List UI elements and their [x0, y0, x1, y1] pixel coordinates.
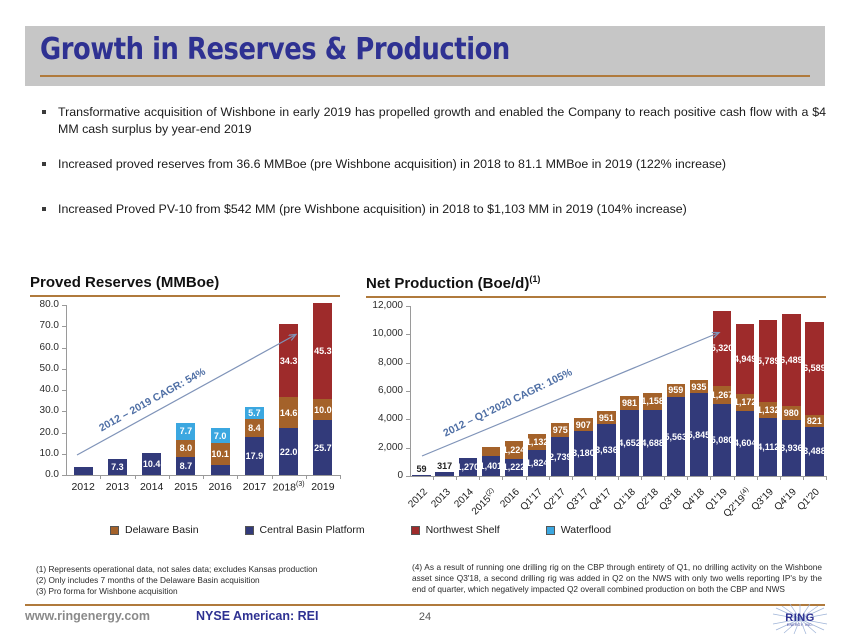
y-axis-tick [62, 305, 66, 306]
bar-segment-central-basin-platform: 3,488 [805, 427, 823, 476]
bar-2014: 1,270 [459, 306, 477, 476]
bar-2013 [435, 306, 453, 476]
y-axis-tick [406, 476, 410, 477]
bar-value-label: 17.9 [246, 451, 264, 461]
bar-value-label: 4,652 [618, 438, 641, 448]
legend-swatch-icon [546, 526, 555, 535]
y-axis-tick [62, 454, 66, 455]
bar-Q218: 4,6881,158 [643, 306, 661, 476]
x-axis-tick [734, 476, 735, 480]
bullet-marker-icon [42, 110, 46, 114]
bar-value-label: 1,401 [480, 461, 503, 471]
bar-value-label: 10.4 [143, 459, 161, 469]
bar-value-label: 5,080 [711, 435, 734, 445]
chart-title-proved-reserves: Proved Reserves (MMBoe) [30, 274, 340, 291]
y-axis-tick-label: 40.0 [30, 384, 59, 395]
x-axis-tick [479, 476, 480, 480]
bullet-marker-icon [42, 207, 46, 211]
bar-segment-central-basin-platform: 7.3 [108, 459, 127, 475]
bar-value-label: 5,789 [757, 356, 780, 366]
legend-label: Central Basin Platform [260, 524, 365, 536]
x-axis-tick [237, 475, 238, 479]
x-axis-tick [100, 475, 101, 479]
y-axis-tick-label: 50.0 [30, 363, 59, 374]
bar-value-label: 1,270 [457, 462, 480, 472]
legend-swatch-icon [245, 526, 254, 535]
y-axis-tick-label: 80.0 [30, 299, 59, 310]
bar-segment-central-basin-platform: 1,270 [459, 458, 477, 476]
y-axis-tick [62, 369, 66, 370]
bar-segment-central-basin-platform: 1,401 [482, 456, 500, 476]
bar-segment-central-basin-platform: 25.7 [313, 420, 332, 475]
legend-swatch-icon [411, 526, 420, 535]
bar-segment-delaware-basin: 821 [805, 415, 823, 427]
x-axis-tick [306, 475, 307, 479]
y-axis-tick-label: 0.0 [30, 469, 59, 480]
bar-value-label: 4,949 [734, 354, 757, 364]
bar-segment-central-basin-platform: 5,080 [713, 404, 731, 476]
proved-reserves-panel: Proved Reserves (MMBoe) 0.010.020.030.04… [30, 274, 340, 505]
bar-Q319: 4,1121,1325,789 [759, 306, 777, 476]
bar-2016: 10.17.0 [211, 305, 230, 475]
legend-label: Northwest Shelf [426, 524, 500, 536]
bar-segment-central-basin-platform [211, 465, 230, 475]
y-axis-tick-label: 20.0 [30, 427, 59, 438]
bar-segment-delaware-basin: 1,158 [643, 393, 661, 409]
bar-segment-northwest-shelf: 34.3 [279, 324, 298, 397]
bar-value-label: 10.0 [314, 405, 332, 415]
legend-label: Delaware Basin [125, 524, 199, 536]
bar-segment-delaware-basin: 975 [551, 423, 569, 437]
net-production-panel: Net Production (Boe/d)(1) 02,0004,0006,0… [366, 274, 826, 530]
y-axis-tick [406, 448, 410, 449]
bar-segment-northwest-shelf: 5,320 [713, 311, 731, 386]
x-axis-tick [433, 476, 434, 480]
bar-segment-delaware-basin: 1,132 [528, 434, 546, 450]
bar-segment-central-basin-platform [435, 472, 453, 476]
bar-Q419: 3,9369806,489 [782, 306, 800, 476]
bar-segment-delaware-basin: 951 [597, 411, 615, 424]
legend-item-waterflood[interactable]: Waterflood [546, 524, 611, 536]
bar-value-label: 1,224 [503, 445, 526, 455]
bar-segment-central-basin-platform: 22.0 [279, 428, 298, 475]
bar-segment-central-basin-platform: 4,688 [643, 410, 661, 476]
x-axis-tick [826, 476, 827, 480]
chart-title-underline [366, 296, 826, 298]
bar-value-label: 14.6 [280, 408, 298, 418]
bar-Q219: 4,6041,1724,949 [736, 306, 754, 476]
bar-value-label: 2,739 [549, 452, 572, 462]
bar-Q120: 3,4888216,589 [805, 306, 823, 476]
y-axis-tick-label: 70.0 [30, 320, 59, 331]
bar-value-label: 1,267 [711, 390, 734, 400]
page-title: Growth in Reserves & Production [40, 32, 510, 67]
bar-segment-central-basin-platform: 10.4 [142, 453, 161, 475]
x-axis-tick-label: 2015 [169, 481, 203, 493]
bar-value-label: 3,488 [803, 446, 826, 456]
bar-value-label: 981 [622, 398, 637, 408]
bar-value-label: 45.3 [314, 346, 332, 356]
bar-2018: 22.014.634.3 [279, 305, 298, 475]
x-axis-tick [203, 475, 204, 479]
bar-segment-central-basin-platform: 2,739 [551, 437, 569, 476]
footnote: (1) Represents operational data, not sal… [36, 564, 406, 575]
bar-segment-delaware-basin: 980 [782, 406, 800, 420]
bar-value-label: 8.7 [180, 461, 193, 471]
bar-segment-delaware-basin: 959 [667, 384, 685, 398]
legend-item-central-basin-platform[interactable]: Central Basin Platform [245, 524, 365, 536]
bar-segment-central-basin-platform: 1,222 [505, 459, 523, 476]
bar-2017: 17.98.45.7 [245, 305, 264, 475]
footnotes-left: (1) Represents operational data, not sal… [36, 564, 406, 597]
bar-value-label: 5.7 [248, 408, 261, 418]
y-axis-line [410, 306, 411, 476]
bar-value-label: 34.3 [280, 356, 298, 366]
y-axis-tick-label: 60.0 [30, 342, 59, 353]
bar-value-label: 3,636 [595, 445, 618, 455]
bar-Q418: 5,845935 [690, 306, 708, 476]
bullet-text: Increased proved reserves from 36.6 MMBo… [58, 157, 726, 171]
x-axis-tick [641, 476, 642, 480]
chart-title-text: Net Production (Boe/d) [366, 275, 529, 292]
x-axis-tick [664, 476, 665, 480]
footnotes-right: (4) As a result of running one drilling … [412, 562, 822, 595]
bar-value-label: 22.0 [280, 447, 298, 457]
x-axis-tick [803, 476, 804, 480]
x-axis-tick [710, 476, 711, 480]
bar-segment-central-basin-platform: 8.7 [176, 457, 195, 475]
bar-segment-central-basin-platform: 3,180 [574, 431, 592, 476]
y-axis-tick-label: 8,000 [366, 357, 403, 368]
bar-segment-central-basin-platform: 5,563 [667, 397, 685, 476]
bar-segment-central-basin-platform: 4,604 [736, 411, 754, 476]
bar-value-label: 7.7 [180, 426, 193, 436]
bar-value-label: 975 [553, 425, 568, 435]
footnote: (4) As a result of running one drilling … [412, 562, 822, 595]
y-axis-tick-label: 6,000 [366, 385, 403, 396]
y-axis-tick-label: 2,000 [366, 442, 403, 453]
bar-segment-delaware-basin [482, 447, 500, 456]
bar-value-label: 7.0 [214, 431, 227, 441]
bar-segment-central-basin-platform: 3,636 [597, 424, 615, 476]
bar-2013: 7.3 [108, 305, 127, 475]
title-banner: Growth in Reserves & Production [25, 26, 825, 86]
bar-value-label: 8.4 [248, 423, 261, 433]
x-axis-tick-label: 2014 [135, 481, 169, 493]
x-axis-tick [456, 476, 457, 480]
chart-title-net-production: Net Production (Boe/d)(1) [366, 274, 826, 292]
page-number: 24 [0, 611, 850, 623]
y-axis-tick [406, 306, 410, 307]
legend-swatch-icon [110, 526, 119, 535]
list-item: Increased proved reserves from 36.6 MMBo… [36, 156, 726, 173]
x-axis-tick-label: 2016 [203, 481, 237, 493]
x-axis-tick [595, 476, 596, 480]
y-axis-tick-label: 10,000 [366, 328, 403, 339]
x-axis-tick [618, 476, 619, 480]
x-axis-tick-label: 2017 [237, 481, 271, 493]
x-axis-tick [526, 476, 527, 480]
x-axis-tick [340, 475, 341, 479]
legend-item-delaware-basin[interactable]: Delaware Basin [110, 524, 199, 536]
bar-value-label: 3,180 [572, 448, 595, 458]
bar-value-label: 10.1 [211, 449, 229, 459]
net-production-plot: 02,0004,0006,0008,00010,00012,0005920123… [366, 306, 826, 530]
bar-value-label: 1,158 [641, 396, 664, 406]
bar-value-label: 1,172 [734, 397, 757, 407]
bar-segment-northwest-shelf: 45.3 [313, 303, 332, 399]
bar-segment-delaware-basin: 1,172 [736, 394, 754, 411]
y-axis-tick [406, 363, 410, 364]
logo-subtext: ENERGY, INC. [772, 623, 828, 627]
legend-item-northwest-shelf[interactable]: Northwest Shelf [411, 524, 500, 536]
bar-segment-central-basin-platform [412, 475, 430, 476]
bar-segment-delaware-basin: 10.0 [313, 399, 332, 420]
bar-2019: 25.710.045.3 [313, 305, 332, 475]
x-axis-tick [169, 475, 170, 479]
bar-value-label: 980 [784, 408, 799, 418]
bar-value-label: 4,604 [734, 438, 757, 448]
chart-legend: Delaware BasinCentral Basin PlatformNort… [110, 524, 750, 536]
x-axis-tick-label: 2013 [100, 481, 134, 493]
y-axis-tick [62, 475, 66, 476]
bar-value-label: 6,489 [780, 355, 803, 365]
bar-value-label: 907 [576, 420, 591, 430]
list-item: Increased Proved PV-10 from $542 MM (pre… [36, 201, 687, 218]
bar-segment-northwest-shelf: 6,589 [805, 322, 823, 415]
footnote: (3) Pro forma for Wishbone acquisition [36, 586, 406, 597]
y-axis-tick [62, 411, 66, 412]
bullet-text: Increased Proved PV-10 from $542 MM (pre… [58, 202, 687, 216]
list-item: Transformative acquisition of Wishbone i… [36, 104, 826, 137]
bar-segment-northwest-shelf: 4,949 [736, 324, 754, 394]
bar-segment-northwest-shelf: 6,489 [782, 314, 800, 406]
bar-segment-northwest-shelf: 5,789 [759, 320, 777, 402]
bar-2015: 1,401 [482, 306, 500, 476]
proved-reserves-plot: 0.010.020.030.040.050.060.070.080.020127… [30, 305, 340, 505]
bar-segment-central-basin-platform: 4,112 [759, 418, 777, 476]
x-axis-tick-label: 2012 [66, 481, 100, 493]
x-axis-tick [502, 476, 503, 480]
bar-value-label: 5,320 [711, 343, 734, 353]
x-axis-tick [572, 476, 573, 480]
y-axis-tick-label: 12,000 [366, 300, 403, 311]
bar-Q119: 5,0801,2675,320 [713, 306, 731, 476]
bar-value-label: 8.0 [180, 443, 193, 453]
x-axis-tick [272, 475, 273, 479]
y-axis-tick-label: 4,000 [366, 413, 403, 424]
bar-value-label: 25.7 [314, 443, 332, 453]
x-axis-tick [757, 476, 758, 480]
title-underline [40, 75, 810, 77]
bar-segment-delaware-basin: 1,224 [505, 441, 523, 458]
bar-segment-delaware-basin: 8.0 [176, 440, 195, 457]
bar-Q417: 3,636951 [597, 306, 615, 476]
x-axis-tick-label: 2018(3) [272, 481, 306, 494]
legend-label: Waterflood [561, 524, 611, 536]
bar-segment-central-basin-platform: 1,824 [528, 450, 546, 476]
bar-Q118: 4,652981 [620, 306, 638, 476]
y-axis-tick [406, 391, 410, 392]
bar-segment-central-basin-platform: 17.9 [245, 437, 264, 475]
bar-value-label: 935 [691, 382, 706, 392]
bar-value-label: 1,824 [526, 458, 549, 468]
bar-value-label: 317 [430, 461, 459, 471]
bar-value-label: 4,112 [757, 442, 779, 452]
bar-Q217: 2,739975 [551, 306, 569, 476]
bar-value-label: 1,132 [757, 405, 780, 415]
y-axis-tick [62, 390, 66, 391]
bar-segment-delaware-basin: 935 [690, 380, 708, 393]
bar-value-label: 1,132 [526, 437, 549, 447]
y-axis-tick [406, 334, 410, 335]
x-axis-tick [780, 476, 781, 480]
y-axis-tick [62, 348, 66, 349]
y-axis-tick [62, 433, 66, 434]
chart-title-underline [30, 295, 340, 297]
bar-segment-delaware-basin: 14.6 [279, 397, 298, 428]
bar-value-label: 5,563 [665, 432, 688, 442]
y-axis-tick-label: 0 [366, 470, 403, 481]
chart-title-superscript: (1) [529, 274, 540, 284]
footer-divider [25, 604, 825, 606]
bar-segment-central-basin-platform: 5,845 [690, 393, 708, 476]
y-axis-tick-label: 10.0 [30, 448, 59, 459]
x-axis-tick [135, 475, 136, 479]
x-axis-tick-label: 2019 [306, 481, 340, 493]
bar-value-label: 1,222 [503, 462, 526, 472]
bar-segment-central-basin-platform: 3,936 [782, 420, 800, 476]
bar-segment-delaware-basin: 10.1 [211, 443, 230, 464]
bar-segment-delaware-basin: 907 [574, 418, 592, 431]
bullet-text: Transformative acquisition of Wishbone i… [58, 105, 826, 136]
bar-value-label: 5,845 [688, 430, 711, 440]
bar-segment-waterflood: 7.0 [211, 428, 230, 443]
y-axis-tick-label: 30.0 [30, 405, 59, 416]
bar-segment-central-basin-platform [74, 467, 93, 475]
bar-value-label: 7.3 [111, 462, 124, 472]
x-axis-tick [549, 476, 550, 480]
bar-segment-waterflood: 7.7 [176, 423, 195, 439]
bar-Q317: 3,180907 [574, 306, 592, 476]
y-axis-line [66, 305, 67, 475]
bar-segment-delaware-basin: 8.4 [245, 419, 264, 437]
y-axis-tick [62, 326, 66, 327]
bar-segment-delaware-basin: 981 [620, 396, 638, 410]
bullet-marker-icon [42, 162, 46, 166]
bar-segment-central-basin-platform: 4,652 [620, 410, 638, 476]
bar-value-label: 821 [807, 416, 822, 426]
bar-value-label: 3,936 [780, 443, 803, 453]
bar-value-label: 951 [599, 413, 614, 423]
x-axis-tick [687, 476, 688, 480]
bar-segment-delaware-basin: 1,267 [713, 386, 731, 404]
bar-2012 [74, 305, 93, 475]
bar-value-label: 6,589 [803, 363, 826, 373]
bar-value-label: 4,688 [641, 438, 664, 448]
ring-energy-logo: RING ENERGY, INC. [772, 604, 828, 634]
bar-2012 [412, 306, 430, 476]
y-axis-tick [406, 419, 410, 420]
bar-Q318: 5,563959 [667, 306, 685, 476]
footnote: (2) Only includes 7 months of the Delawa… [36, 575, 406, 586]
bar-value-label: 959 [668, 385, 683, 395]
bar-segment-waterflood: 5.7 [245, 407, 264, 419]
bar-segment-delaware-basin: 1,132 [759, 402, 777, 418]
